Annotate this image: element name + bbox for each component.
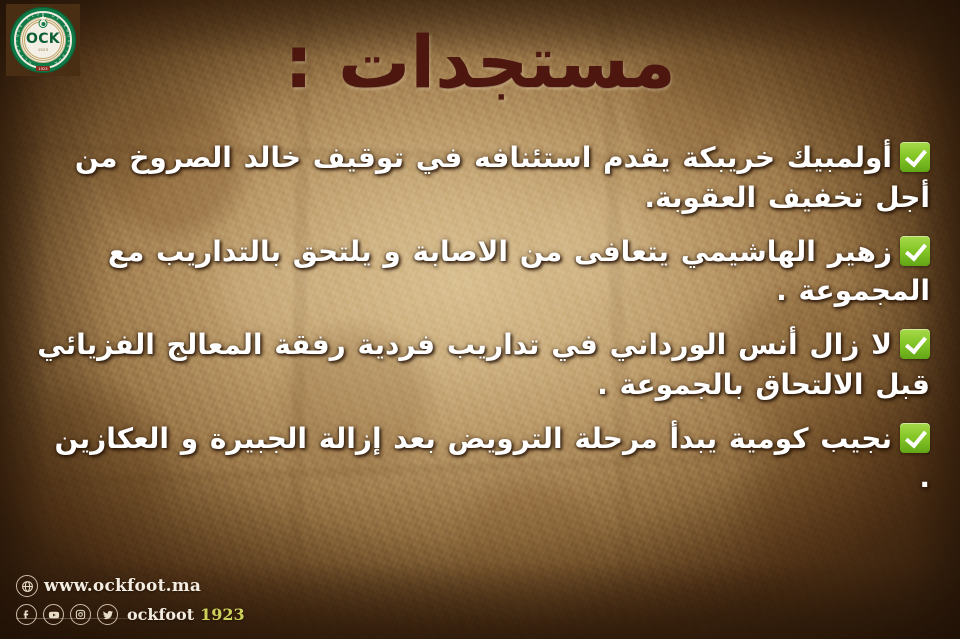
list-item-text: أولمبيك خريبكة يقدم استئنافه في توقيف خا… (75, 141, 930, 214)
poster-canvas: OLYMPIQUE CLUB DE KHOURIBGA ★ OCK 1923 1… (0, 0, 960, 639)
globe-icon (16, 575, 38, 597)
twitter-icon[interactable] (97, 604, 118, 625)
list-item-text: زهير الهاشيمي يتعافى من الاصابة و يلتحق … (108, 235, 930, 308)
footer: www.ockfoot.ma (16, 575, 245, 625)
star-icon: ★ (39, 15, 47, 24)
club-badge: OLYMPIQUE CLUB DE KHOURIBGA ★ OCK 1923 1… (10, 7, 76, 73)
list-item: نجيب كومية يبدأ مرحلة الترويض بعد إزالة … (34, 419, 930, 499)
list-item-text: نجيب كومية يبدأ مرحلة الترويض بعد إزالة … (54, 422, 930, 495)
social-handle[interactable]: ockfoot (127, 605, 194, 624)
footer-website-row: www.ockfoot.ma (16, 575, 245, 597)
green-check-icon (900, 423, 930, 453)
green-check-icon (900, 142, 930, 172)
badge-founded-year: 1923 (36, 66, 50, 71)
update-body: نجيب كومية يبدأ مرحلة الترويض بعد إزالة … (54, 422, 930, 495)
youtube-icon[interactable] (43, 604, 64, 625)
list-item: زهير الهاشيمي يتعافى من الاصابة و يلتحق … (34, 232, 930, 312)
update-body: لا زال أنس الورداني في تداريب فردية رفقة… (37, 328, 930, 401)
list-item: لا زال أنس الورداني في تداريب فردية رفقة… (34, 325, 930, 405)
updates-list: أولمبيك خريبكة يقدم استئنافه في توقيف خا… (34, 138, 930, 512)
badge-subtitle: 1923 (38, 48, 48, 52)
badge-initials: OCK (26, 32, 60, 46)
club-logo: OLYMPIQUE CLUB DE KHOURIBGA ★ OCK 1923 1… (6, 4, 80, 76)
update-body: زهير الهاشيمي يتعافى من الاصابة و يلتحق … (108, 235, 930, 308)
instagram-icon[interactable] (70, 604, 91, 625)
social-handle-year: 1923 (200, 605, 245, 624)
page-title: مستجدات : (0, 26, 960, 98)
footer-divider (16, 618, 216, 619)
website-url[interactable]: www.ockfoot.ma (44, 576, 201, 596)
list-item: أولمبيك خريبكة يقدم استئنافه في توقيف خا… (34, 138, 930, 218)
footer-social-row: ockfoot 1923 (16, 604, 245, 625)
facebook-icon[interactable] (16, 604, 37, 625)
green-check-icon (900, 236, 930, 266)
green-check-icon (900, 329, 930, 359)
badge-inner-disc: ★ OCK 1923 (21, 18, 65, 62)
list-item-text: لا زال أنس الورداني في تداريب فردية رفقة… (37, 328, 930, 401)
update-body: أولمبيك خريبكة يقدم استئنافه في توقيف خا… (75, 141, 930, 214)
